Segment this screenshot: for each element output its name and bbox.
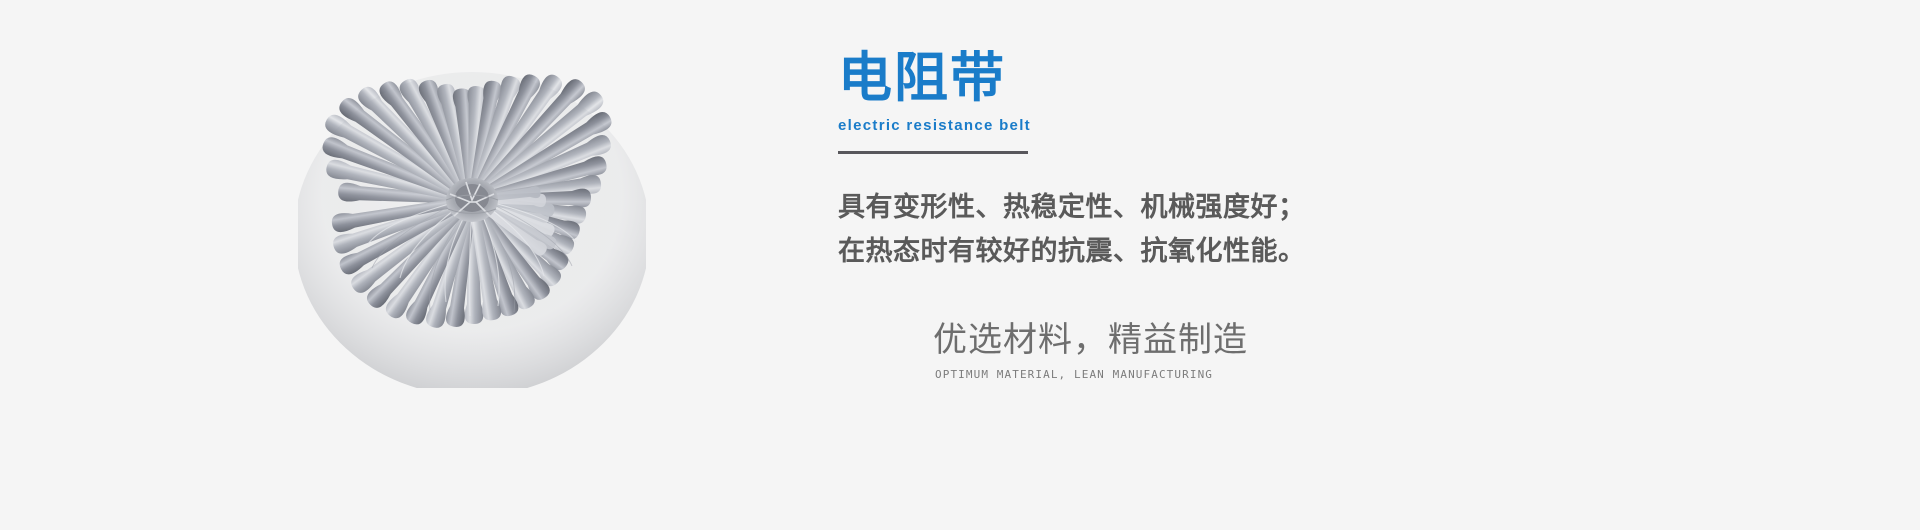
page-subtitle: electric resistance belt (838, 117, 1031, 135)
resistance-belt-coil-icon (298, 48, 646, 388)
description-block: 具有变形性、热稳定性、机械强度好； 在热态时有较好的抗震、抗氧化性能。 (838, 185, 1458, 273)
page-title: 电阻带 (838, 47, 1031, 109)
banner-content: 电阻带 electric resistance belt 具有变形性、热稳定性、… (838, 0, 1838, 530)
product-image (298, 48, 646, 388)
slogan-english: OPTIMUM MATERIAL, LEAN MANUFACTURING (935, 368, 1353, 382)
slogan-block: 优选材料，精益制造 OPTIMUM MATERIAL, LEAN MANUFAC… (933, 318, 1353, 382)
title-divider (838, 151, 1028, 154)
description-line-2: 在热态时有较好的抗震、抗氧化性能。 (838, 229, 1458, 273)
heading-block: 电阻带 electric resistance belt (838, 47, 1031, 135)
slogan-chinese: 优选材料，精益制造 (933, 318, 1353, 364)
product-banner: 电阻带 electric resistance belt 具有变形性、热稳定性、… (0, 0, 1920, 530)
product-image-stage (298, 48, 646, 388)
description-line-1: 具有变形性、热稳定性、机械强度好； (838, 185, 1458, 229)
